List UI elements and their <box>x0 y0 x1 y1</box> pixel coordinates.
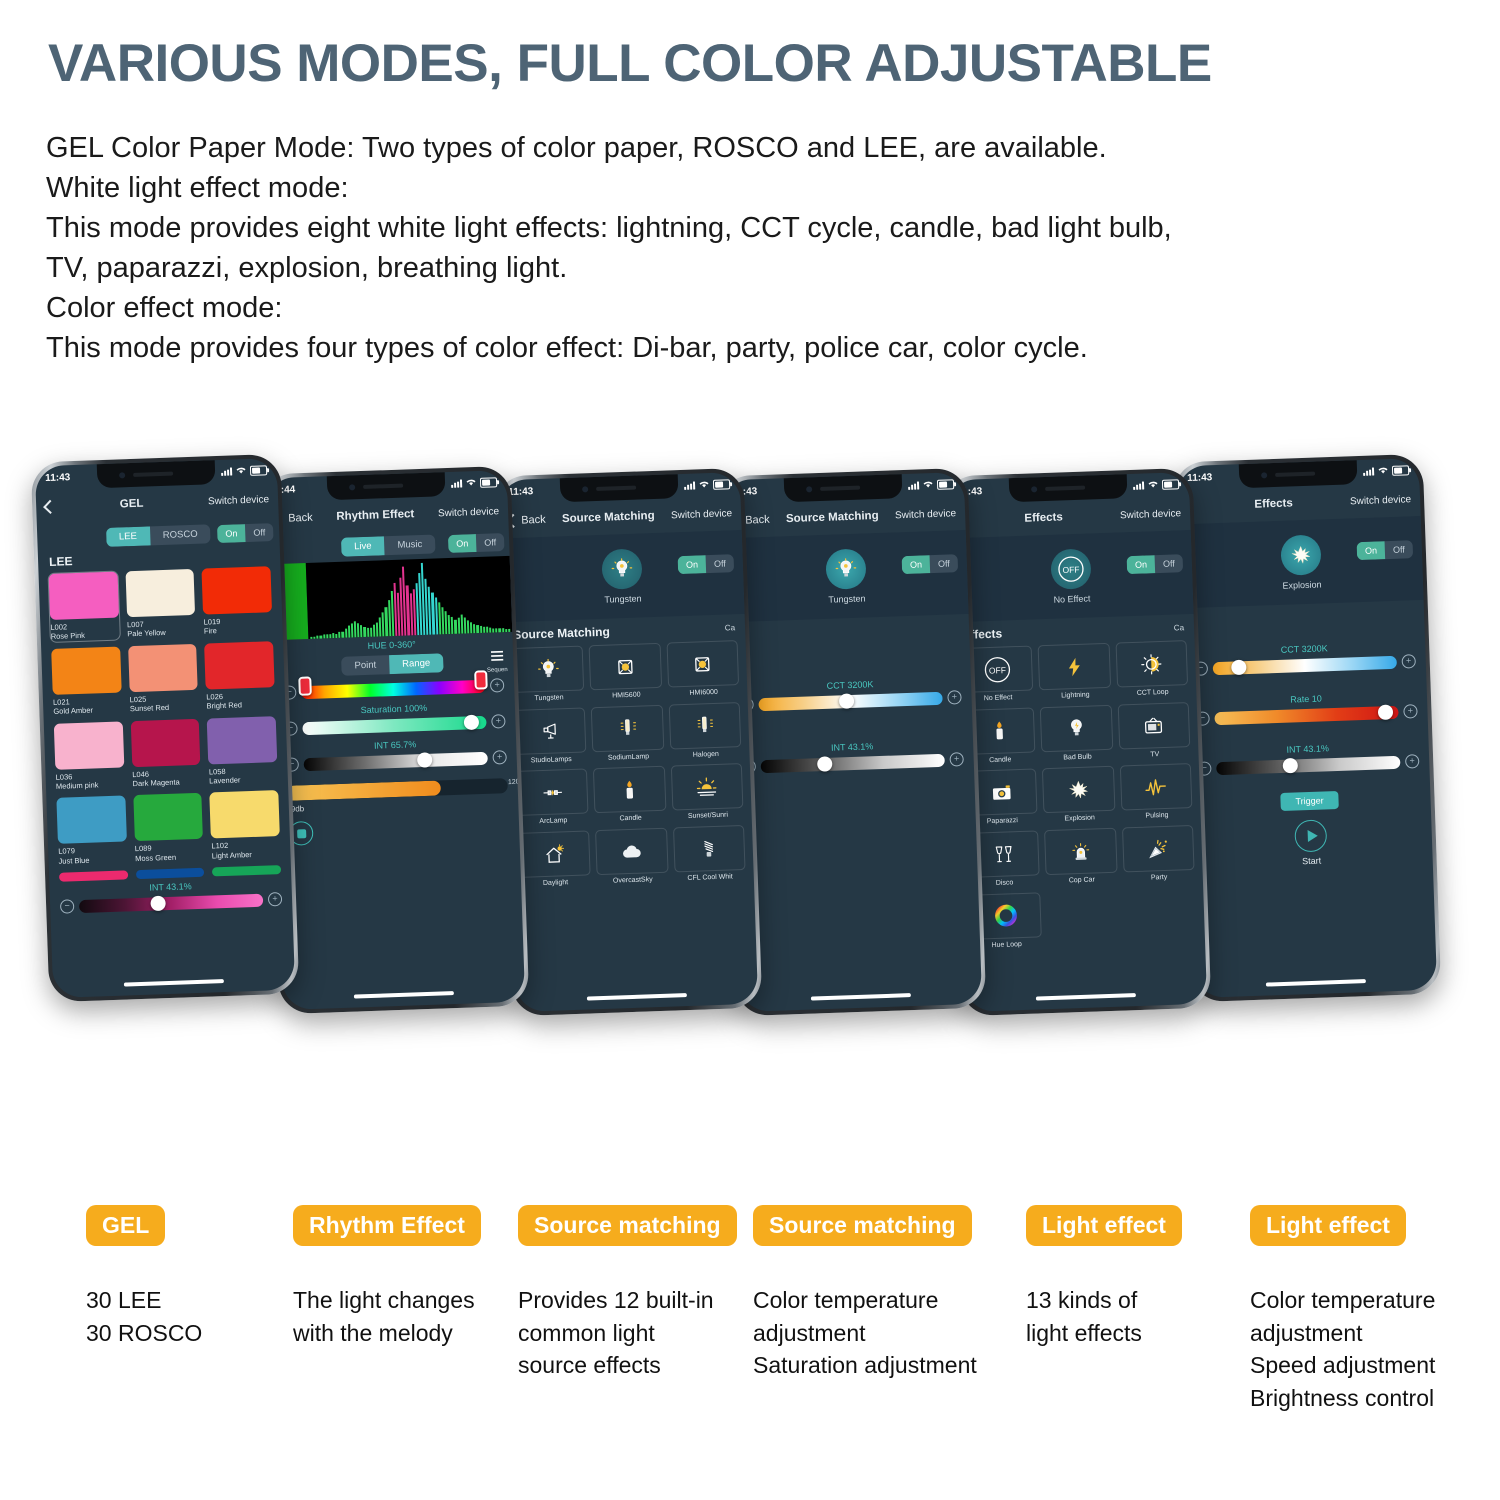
grid-item-label: Explosion <box>1044 814 1116 824</box>
cct-loop-icon[interactable] <box>1115 640 1188 687</box>
slider-handle[interactable] <box>1231 660 1247 676</box>
slider-track[interactable] <box>1216 755 1400 774</box>
swatch-code: L007 <box>127 620 144 630</box>
grid-item[interactable]: Daylight <box>518 830 591 888</box>
swatch-code: L046 <box>132 769 149 779</box>
switch-device-button[interactable]: Switch device <box>1350 494 1411 507</box>
back-button[interactable]: Back <box>508 514 546 527</box>
grid-item-label: OvercastSky <box>597 876 669 886</box>
wifi-icon <box>235 465 247 477</box>
switch-device-button[interactable]: Switch device <box>438 506 499 519</box>
slider-row[interactable]: −+ <box>285 750 507 772</box>
pulse-icon[interactable] <box>1120 763 1193 810</box>
spectrum-bar <box>486 627 488 633</box>
notch <box>327 472 446 500</box>
grid-item-label: SodiumLamp <box>593 752 665 762</box>
spectrum-bar <box>363 627 365 637</box>
grid-item[interactable]: TV <box>1117 702 1190 760</box>
swatch-item[interactable]: L079Just Blue <box>56 796 127 866</box>
swatch-code: L025 <box>129 694 146 704</box>
grid-item[interactable]: Lightning <box>1038 643 1111 701</box>
tv-icon[interactable] <box>1117 702 1190 749</box>
battery-icon <box>1392 465 1409 476</box>
slider-stack: CCT 3200K−+Rate 10−+INT 43.1%−+ <box>1182 600 1430 776</box>
toggle-off[interactable]: Off <box>476 533 504 552</box>
swatch-item[interactable]: L036Medium pink <box>54 721 125 791</box>
swatch-name: Just Blue <box>58 855 89 865</box>
swatch-color[interactable] <box>212 865 281 876</box>
studio-lamp-icon[interactable] <box>514 707 587 754</box>
grid-item-label: StudioLamps <box>515 755 587 765</box>
back-button[interactable] <box>45 502 55 512</box>
slider-handle[interactable] <box>1282 758 1298 774</box>
signal-icon <box>684 482 695 490</box>
db-max-label: 1200 <box>508 779 524 787</box>
description-line-1: GEL Color Paper Mode: Two types of color… <box>46 128 1386 168</box>
grid-item[interactable]: CCT Loop <box>1115 640 1188 698</box>
toggle-on[interactable]: On <box>678 555 707 574</box>
phone-6: 11:43EffectsSwitch deviceExplosionOnOffC… <box>1173 454 1442 1002</box>
grid-item[interactable]: ArcLamp <box>516 769 589 827</box>
caption-badge: Source matching <box>518 1205 737 1246</box>
grid-item-label: TV <box>1119 750 1191 760</box>
screen-content-3: TungstenOnOffSource MatchingCaTungstenHM… <box>500 530 758 1012</box>
swatch-color[interactable] <box>136 868 205 879</box>
status-icons <box>908 478 954 492</box>
slider-row[interactable]: −+ <box>1194 654 1416 676</box>
grid-item-label: CCT Loop <box>1117 688 1189 698</box>
toggle-off[interactable]: Off <box>706 554 734 573</box>
wifi-icon <box>698 479 710 491</box>
grid-item-label: Cop Car <box>1046 876 1118 886</box>
increase-button[interactable]: + <box>492 750 506 764</box>
segment-music[interactable]: Music <box>384 534 435 555</box>
spectrum-bar <box>373 625 376 637</box>
hero-preview: OFFNo EffectOnOff <box>949 530 1194 622</box>
swatch-label: L046Dark Magenta <box>132 767 201 788</box>
grid-item-label: Party <box>1123 873 1195 883</box>
swatch-item[interactable]: L007Pale Yellow <box>125 569 196 639</box>
notch <box>1239 460 1358 488</box>
increase-button[interactable]: + <box>1403 704 1417 718</box>
switch-device-button[interactable]: Switch device <box>671 508 732 521</box>
swatch-color[interactable] <box>56 796 126 844</box>
description-line-3: This mode provides eight white light eff… <box>46 208 1386 248</box>
notch <box>784 474 903 502</box>
spectrum-bar <box>360 625 363 637</box>
slider-handle[interactable] <box>1378 704 1394 720</box>
switch-device-button[interactable]: Switch device <box>895 508 956 521</box>
play-icon[interactable] <box>1294 819 1327 852</box>
bulb-icon[interactable] <box>512 646 585 693</box>
grid-item[interactable]: Sunset/Sunri <box>671 763 744 821</box>
swatch-color[interactable] <box>202 566 272 614</box>
spectrum-bar <box>310 637 312 639</box>
swatch-color[interactable] <box>51 646 121 694</box>
db-fill <box>286 780 442 800</box>
caption-line: Provides 12 built-in <box>518 1284 737 1317</box>
toggle-off[interactable]: Off <box>930 554 958 573</box>
swatch-code: L036 <box>55 772 72 782</box>
trigger-button[interactable]: Trigger <box>1280 791 1339 811</box>
grid-item[interactable]: Tungsten <box>512 646 585 704</box>
siren-icon[interactable] <box>1044 828 1117 875</box>
slider-stack: CCT 3200K−+INT 43.1%−+ <box>727 614 974 774</box>
slider-track[interactable] <box>1214 705 1398 724</box>
spectrum-bar <box>342 631 344 638</box>
slider-row[interactable]: −+ <box>739 690 961 712</box>
switch-device-button[interactable]: Switch device <box>1120 508 1181 521</box>
spectrum-bar <box>505 629 507 632</box>
wifi-icon <box>1147 479 1159 491</box>
spectrum-bar <box>483 626 485 633</box>
toggle-off[interactable]: Off <box>1155 554 1183 573</box>
candle-icon[interactable] <box>593 766 666 813</box>
slider-row[interactable]: −+ <box>60 892 282 914</box>
phone-showcase: 11:43GELSwitch deviceLEEROSCOOnOffLEEL00… <box>0 440 1500 1200</box>
slider-row[interactable]: −+ <box>742 752 964 774</box>
gel-swatch-grid: L002Rose PinkL007Pale YellowL019FireL021… <box>39 566 292 882</box>
swatch-color[interactable] <box>54 721 124 769</box>
grid-item-label: CFL Cool Whit <box>674 873 746 883</box>
swatch-item[interactable]: L002Rose Pink <box>49 572 120 642</box>
grid-item-label: Candle <box>595 814 667 824</box>
swatch-code: L058 <box>209 766 226 776</box>
power-toggle[interactable]: OnOff <box>902 554 958 574</box>
swatch-color[interactable] <box>210 790 280 838</box>
db-meter-group: 120079db <box>286 778 509 814</box>
grid-item[interactable]: SodiumLamp <box>591 704 664 762</box>
slider-group: CCT 3200K−+ <box>729 676 972 712</box>
slider-handle[interactable] <box>151 896 167 912</box>
screen-content-2: LiveMusicOnOffHUE 0-360°PointRangeSequen… <box>267 528 525 1010</box>
caption-line: adjustment <box>1250 1317 1435 1350</box>
caption-description: The light changeswith the melody <box>293 1284 481 1349</box>
power-toggle[interactable]: OnOff <box>217 523 273 543</box>
segment-live[interactable]: Live <box>341 536 385 557</box>
caption-line: Saturation adjustment <box>753 1349 977 1382</box>
increase-button[interactable]: + <box>947 690 961 704</box>
slider-row[interactable]: −+ <box>1195 704 1417 726</box>
spectrum-bar <box>370 627 372 636</box>
caption-line: The light changes <box>293 1284 481 1317</box>
arc-lamp-icon[interactable] <box>516 769 589 816</box>
slider-row[interactable]: −+ <box>282 678 504 700</box>
battery-icon <box>250 465 267 476</box>
slider-track[interactable] <box>1213 655 1397 674</box>
swatch-code: L021 <box>53 697 70 707</box>
swatch-label: L026Bright Red <box>206 690 275 711</box>
swatch-item[interactable] <box>212 865 281 876</box>
power-toggle[interactable]: OnOff <box>1357 540 1413 560</box>
cfl-icon[interactable] <box>673 825 746 872</box>
increase-button[interactable]: + <box>268 892 282 906</box>
bad-bulb-icon[interactable] <box>1040 704 1113 751</box>
increase-button[interactable]: + <box>1405 754 1419 768</box>
status-time: 11:43 <box>1187 472 1212 484</box>
swatch-color[interactable] <box>207 716 277 764</box>
sequence-button[interactable]: Sequen <box>486 648 508 674</box>
swatch-label: L036Medium pink <box>55 770 124 791</box>
signal-icon <box>221 468 232 476</box>
swatch-color[interactable] <box>49 572 119 620</box>
toggle-on[interactable]: On <box>217 524 246 543</box>
slider-track[interactable] <box>79 893 263 912</box>
hero-label: Explosion <box>1282 579 1321 590</box>
bolt-icon[interactable] <box>1038 643 1111 690</box>
slider-handle[interactable] <box>817 756 833 772</box>
caption-1: GEL30 LEE30 ROSCO <box>86 1205 202 1349</box>
power-toggle[interactable]: OnOff <box>1127 554 1183 574</box>
grid-item[interactable]: HMI5600 <box>589 643 662 701</box>
swatch-item[interactable]: L046Dark Magenta <box>130 718 201 788</box>
caption-2: Rhythm EffectThe light changeswith the m… <box>293 1205 481 1349</box>
spectrum-bar <box>480 626 482 633</box>
slider-group: −+ <box>272 678 514 700</box>
party-popper-icon[interactable] <box>1122 825 1195 872</box>
swatch-name: Medium pink <box>56 780 99 790</box>
grid-right-label: Ca <box>725 623 736 632</box>
caption-badge: Light effect <box>1026 1205 1182 1246</box>
toggle-off[interactable]: Off <box>1385 540 1413 559</box>
toggle-on[interactable]: On <box>1357 541 1386 560</box>
swatch-item[interactable]: L102Light Amber <box>210 790 281 860</box>
caption-description: 13 kinds oflight effects <box>1026 1284 1182 1349</box>
spectrum-bar <box>489 628 491 633</box>
description-paragraph: GEL Color Paper Mode: Two types of color… <box>46 128 1386 368</box>
grid-item[interactable]: OvercastSky <box>595 828 668 886</box>
hmi-lamp-icon[interactable] <box>589 643 662 690</box>
grid-item[interactable]: Cop Car <box>1044 828 1117 886</box>
slider-handle[interactable] <box>464 715 480 731</box>
caption-line: Speed adjustment <box>1250 1349 1435 1382</box>
power-toggle[interactable]: OnOff <box>678 554 734 574</box>
slider-track[interactable] <box>761 753 945 772</box>
battery-icon <box>937 479 954 490</box>
swatch-code: L026 <box>206 692 223 702</box>
wifi-icon <box>465 477 477 489</box>
tube-lamp-icon[interactable] <box>591 704 664 751</box>
toggle-on[interactable]: On <box>1127 555 1156 574</box>
slider-handle[interactable] <box>417 752 433 768</box>
caption-line: 30 LEE <box>86 1284 202 1317</box>
phone-screen-2: 3:44BackRhythm EffectSwitch deviceLiveMu… <box>265 470 525 1010</box>
slider-row[interactable]: −+ <box>1197 754 1419 776</box>
segment-point[interactable]: Point <box>341 655 389 676</box>
caption-line: common light <box>518 1317 737 1350</box>
toggle-on[interactable]: On <box>448 534 477 553</box>
swatch-color[interactable] <box>125 569 195 617</box>
phone-screen-5: 11:43EffectsSwitch deviceOFFNo EffectOnO… <box>947 472 1207 1012</box>
swatch-item[interactable]: L019Fire <box>202 566 273 636</box>
slider-group: INT 43.1%−+ <box>49 878 292 914</box>
grid-item-label: ArcLamp <box>518 817 590 827</box>
swatch-color[interactable] <box>204 641 274 689</box>
slider-group: Saturation 100%−+ <box>273 700 516 736</box>
caption-description: 30 LEE30 ROSCO <box>86 1284 202 1349</box>
hero-label: Tungsten <box>604 593 642 604</box>
house-sun-icon[interactable] <box>518 830 591 877</box>
cloud-icon[interactable] <box>595 828 668 875</box>
grid-item-label: Bad Bulb <box>1042 752 1114 762</box>
description-line-4: TV, paparazzi, explosion, breathing ligh… <box>46 248 1386 288</box>
slider-handle-min[interactable] <box>298 676 312 695</box>
slider-group: INT 43.1%−+ <box>731 738 974 774</box>
caption-badge: GEL <box>86 1205 165 1246</box>
grid-section-label: Source Matching <box>513 625 610 642</box>
phone-2: 3:44BackRhythm EffectSwitch deviceLiveMu… <box>261 466 530 1014</box>
swatch-color[interactable] <box>128 644 198 692</box>
screen-title: Source Matching <box>545 509 671 525</box>
spectrum-bar <box>320 636 322 639</box>
status-icons <box>684 478 730 492</box>
swatch-item[interactable] <box>136 868 205 879</box>
caption-badge: Source matching <box>753 1205 972 1246</box>
caption-6: Light effectColor temperatureadjustmentS… <box>1250 1205 1435 1415</box>
phone-3: 11:43BackSource MatchingSwitch deviceTun… <box>494 468 763 1016</box>
grid-item[interactable]: Halogen <box>668 702 741 760</box>
caption-4: Source matchingColor temperatureadjustme… <box>753 1205 977 1382</box>
segment-range[interactable]: Range <box>389 653 444 674</box>
spectrum-bar <box>338 632 340 638</box>
toggle-on[interactable]: On <box>902 555 931 574</box>
status-time: 11:43 <box>508 486 533 498</box>
hmi-lamp-icon[interactable] <box>666 640 739 687</box>
swatch-item[interactable]: L025Sunset Red <box>128 644 199 714</box>
slider-track[interactable] <box>301 679 485 698</box>
grid-item[interactable]: Party <box>1122 825 1195 883</box>
slider-group: INT 65.7%−+ <box>274 736 517 772</box>
explosion-icon[interactable] <box>1042 766 1115 813</box>
slider-handle[interactable] <box>839 693 855 709</box>
grid-item[interactable]: HMI6000 <box>666 640 739 698</box>
battery-icon <box>480 477 497 488</box>
grid-item[interactable]: Bad Bulb <box>1040 704 1113 762</box>
spectrum-bar <box>495 628 497 632</box>
increase-button[interactable]: + <box>949 752 963 766</box>
swatch-item[interactable] <box>59 870 128 881</box>
decrease-button[interactable]: − <box>60 899 74 913</box>
phone-screen-3: 11:43BackSource MatchingSwitch deviceTun… <box>498 472 758 1012</box>
slider-handle-max[interactable] <box>474 670 488 689</box>
back-label: Back <box>288 512 313 525</box>
notch <box>1009 474 1128 502</box>
increase-button[interactable]: + <box>1401 654 1415 668</box>
spectrum-bar <box>323 635 325 639</box>
swatch-color[interactable] <box>130 718 200 766</box>
power-toggle[interactable]: OnOff <box>448 533 504 553</box>
swatch-color[interactable] <box>133 793 203 841</box>
slider-row[interactable]: −+ <box>283 714 505 736</box>
grid-item-label: Pulsing <box>1121 811 1193 821</box>
battery-icon <box>1162 479 1179 490</box>
caption-5: Light effect13 kinds oflight effects <box>1026 1205 1182 1349</box>
screen-content-5: OFFNo EffectOnOffEffectsCaOFFNo EffectLi… <box>949 530 1207 1012</box>
grid-item[interactable]: CFL Cool Whit <box>673 825 746 883</box>
spectrum-bar <box>326 635 328 639</box>
hero-preview: TungstenOnOff <box>724 530 969 622</box>
swatch-item[interactable]: L089Moss Green <box>133 793 204 863</box>
increase-button[interactable]: + <box>491 714 505 728</box>
hero-icon-circle <box>825 548 866 589</box>
screen-title: Source Matching <box>769 509 895 525</box>
description-line-6: This mode provides four types of color e… <box>46 328 1386 368</box>
wifi-icon <box>922 479 934 491</box>
swatch-label: L058Lavender <box>209 765 278 786</box>
caption-line: 30 ROSCO <box>86 1317 202 1350</box>
hue-point-range-tabs[interactable]: PointRange <box>341 653 443 676</box>
swatch-name: Light Amber <box>212 850 252 860</box>
item-grid: TungstenHMI5600HMI6000StudioLampsSodiumL… <box>504 640 754 889</box>
swatch-name: Sunset Red <box>130 703 169 713</box>
sequence-label: Sequen <box>487 667 508 674</box>
status-time: 11:43 <box>45 472 70 484</box>
screen-title: Rhythm Effect <box>312 507 438 523</box>
status-icons <box>451 476 497 490</box>
swatch-item[interactable]: L058Lavender <box>207 716 278 786</box>
start-control[interactable]: Start <box>1189 816 1432 870</box>
swatch-name: Rose Pink <box>51 631 85 641</box>
spectrum-bar <box>467 620 470 633</box>
segment-rosco[interactable]: ROSCO <box>150 524 211 545</box>
spectrum-bar <box>367 628 369 637</box>
swatch-name: Gold Amber <box>53 706 93 716</box>
spectrum-visualizer <box>268 556 513 640</box>
screen-content-4: TungstenOnOffCCT 3200K−+INT 43.1%−+ <box>724 530 982 1012</box>
svg-text:OFF: OFF <box>1062 564 1079 575</box>
swatch-color[interactable] <box>59 870 128 881</box>
sunset-icon[interactable] <box>671 763 744 810</box>
grid-item[interactable]: Pulsing <box>1120 763 1193 821</box>
slider-track[interactable] <box>758 691 942 710</box>
phone-1: 11:43GELSwitch deviceLEEROSCOOnOffLEEL00… <box>31 454 300 1002</box>
screen-title: Effects <box>1197 495 1350 512</box>
rhythm-mode-tabs[interactable]: LiveMusic <box>341 534 436 556</box>
swatch-item[interactable]: L021Gold Amber <box>51 646 122 716</box>
segment-lee[interactable]: LEE <box>106 526 151 547</box>
gel-brand-tabs[interactable]: LEEROSCO <box>106 524 211 547</box>
menu-icon <box>490 650 504 661</box>
grid-item[interactable]: StudioLamps <box>514 707 587 765</box>
screen-title: GEL <box>55 495 208 512</box>
slider-track[interactable] <box>304 751 488 770</box>
slider-track[interactable] <box>302 715 486 734</box>
grid-item[interactable]: Candle <box>593 766 666 824</box>
swatch-item[interactable]: L026Bright Red <box>204 641 275 711</box>
signal-icon <box>1133 482 1144 490</box>
grid-item[interactable]: Explosion <box>1042 766 1115 824</box>
switch-device-button[interactable]: Switch device <box>208 494 269 507</box>
increase-button[interactable]: + <box>490 678 504 692</box>
swatch-name: Dark Magenta <box>132 777 179 788</box>
slider-group: Rate 10−+ <box>1185 690 1428 726</box>
grid-item-label: Tungsten <box>513 693 585 703</box>
caption-description: Provides 12 built-incommon lightsource e… <box>518 1284 737 1382</box>
spectrum-bar <box>499 629 501 633</box>
grid-item-label: HMI5600 <box>591 691 663 701</box>
caption-badge: Rhythm Effect <box>293 1205 481 1246</box>
grid-item-label: Sunset/Sunri <box>672 811 744 821</box>
signal-icon <box>908 482 919 490</box>
swatch-label: L007Pale Yellow <box>127 618 196 639</box>
swatch-code: L089 <box>135 844 152 854</box>
hero-icon-circle <box>601 548 642 589</box>
toggle-off[interactable]: Off <box>245 523 273 542</box>
spectrum-bar <box>470 622 473 633</box>
tube-lamp-icon[interactable] <box>668 702 741 749</box>
spectrum-bar <box>508 629 510 632</box>
spectrum-bar <box>332 633 334 638</box>
